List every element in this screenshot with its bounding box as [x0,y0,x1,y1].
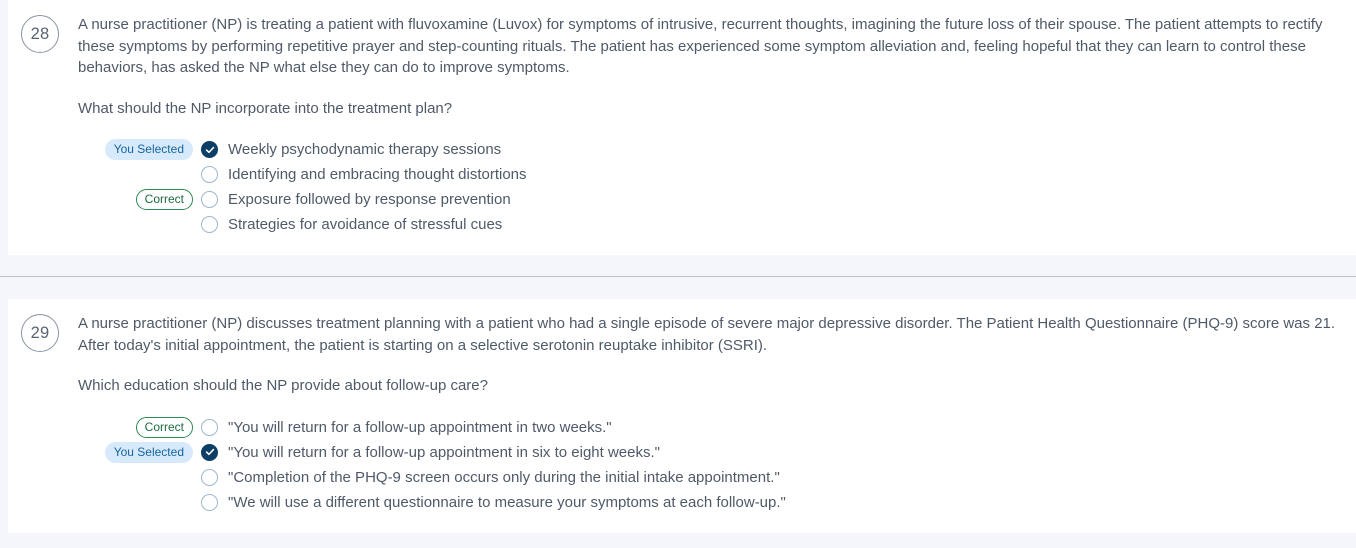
question-card-29: 29 A nurse practitioner (NP) discusses t… [8,299,1356,533]
badge-slot: Correct [78,417,201,438]
question-number-badge: 28 [21,15,59,53]
answer-option-row[interactable]: You Selected Weekly psychodynamic therap… [78,137,1342,162]
question-card-28: 28 A nurse practitioner (NP) is treating… [8,0,1356,255]
question-lead-in: What should the NP incorporate into the … [78,98,1342,120]
answer-option-text: Strategies for avoidance of stressful cu… [228,214,502,235]
question-header: 28 A nurse practitioner (NP) is treating… [8,14,1356,237]
answer-option-text: Exposure followed by response prevention [228,189,511,210]
question-body: A nurse practitioner (NP) is treating a … [59,14,1342,237]
radio-unselected-icon[interactable] [201,191,218,208]
correct-badge: Correct [136,189,193,210]
question-stem: A nurse practitioner (NP) is treating a … [78,14,1342,79]
question-stem: A nurse practitioner (NP) discusses trea… [78,313,1342,356]
answer-option-row[interactable]: You Selected "You will return for a foll… [78,440,1342,465]
card-gap-top [0,255,1356,276]
answer-option-row[interactable]: Correct "You will return for a follow-up… [78,415,1342,440]
radio-unselected-icon[interactable] [201,419,218,436]
radio-unselected-icon[interactable] [201,469,218,486]
correct-badge: Correct [136,417,193,438]
quiz-review-page: 28 A nurse practitioner (NP) is treating… [0,0,1356,535]
answer-option-text: "Completion of the PHQ-9 screen occurs o… [228,467,780,488]
question-body: A nurse practitioner (NP) discusses trea… [59,313,1342,515]
badge-slot: You Selected [78,139,201,160]
answer-options-list: Correct "You will return for a follow-up… [78,415,1342,515]
badge-slot: You Selected [78,442,201,463]
radio-unselected-icon[interactable] [201,494,218,511]
answer-option-text: "You will return for a follow-up appoint… [228,417,612,438]
answer-option-text: Weekly psychodynamic therapy sessions [228,139,501,160]
answer-option-row[interactable]: Correct Exposure followed by response pr… [78,187,1342,212]
question-number-badge: 29 [21,314,59,352]
answer-option-text: "You will return for a follow-up appoint… [228,442,660,463]
card-gap-bottom [0,277,1356,299]
answer-option-row[interactable]: Identifying and embracing thought distor… [78,162,1342,187]
badge-slot: Correct [78,189,201,210]
you-selected-badge: You Selected [105,139,193,160]
answer-options-list: You Selected Weekly psychodynamic therap… [78,137,1342,237]
radio-unselected-icon[interactable] [201,166,218,183]
question-header: 29 A nurse practitioner (NP) discusses t… [8,313,1356,515]
radio-selected-icon[interactable] [201,444,218,461]
radio-selected-icon[interactable] [201,141,218,158]
question-lead-in: Which education should the NP provide ab… [78,375,1342,397]
answer-option-row[interactable]: "Completion of the PHQ-9 screen occurs o… [78,465,1342,490]
answer-option-row[interactable]: Strategies for avoidance of stressful cu… [78,212,1342,237]
answer-option-text: "We will use a different questionnaire t… [228,492,786,513]
you-selected-badge: You Selected [105,442,193,463]
answer-option-row[interactable]: "We will use a different questionnaire t… [78,490,1342,515]
radio-unselected-icon[interactable] [201,216,218,233]
answer-option-text: Identifying and embracing thought distor… [228,164,527,185]
